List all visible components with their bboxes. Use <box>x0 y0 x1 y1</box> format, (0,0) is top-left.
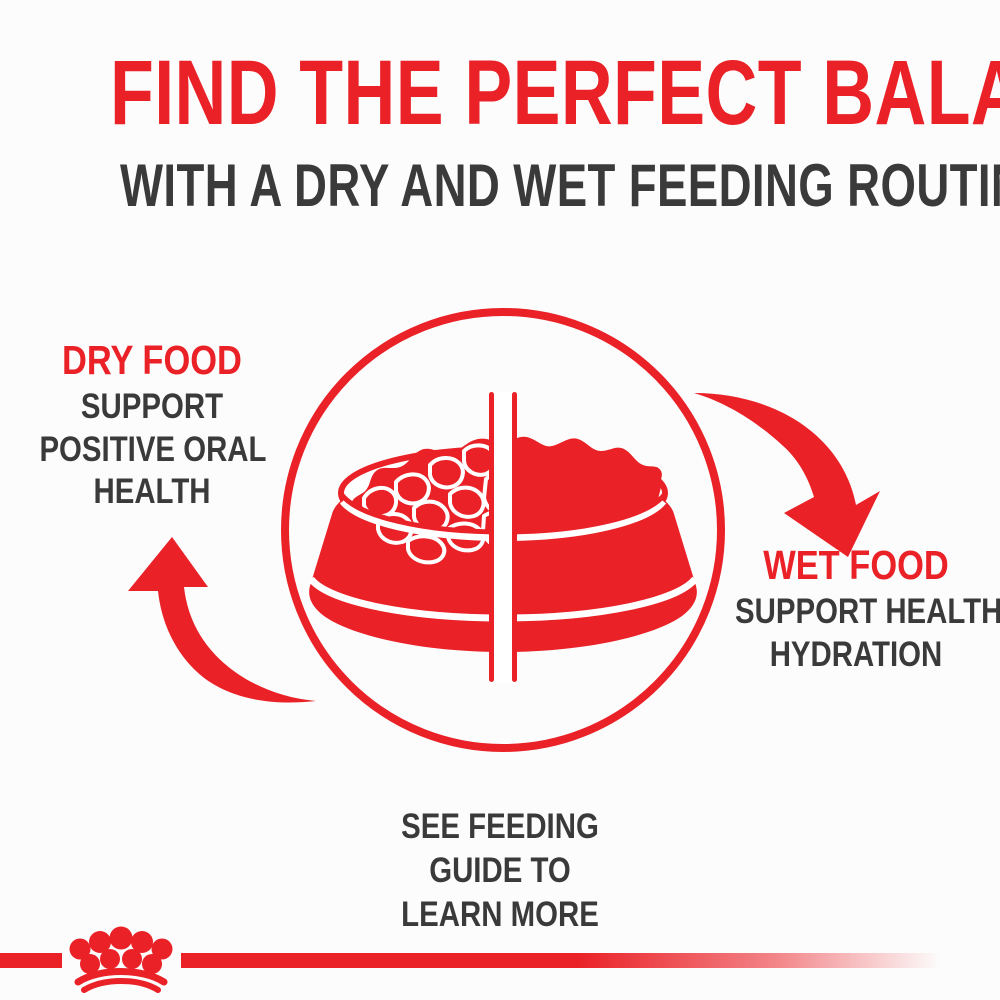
dry-food-title: DRY FOOD <box>39 340 264 382</box>
dry-food-line-3: HEALTH <box>39 471 264 514</box>
cta-text-block[interactable]: SEE FEEDING GUIDE TO LEARN MORE <box>300 805 700 936</box>
dry-food-label: DRY FOOD SUPPORT POSITIVE ORAL HEALTH <box>18 340 286 514</box>
page-subtitle: WITH A DRY AND WET FEEDING ROUTINE <box>120 156 880 216</box>
dry-food-line-1: SUPPORT <box>39 386 264 429</box>
wet-food-line-1: SUPPORT HEALTHY <box>735 591 977 634</box>
footer-bar-right <box>181 953 941 968</box>
royal-canin-crown-icon <box>70 927 173 991</box>
bowl-illustration <box>258 288 748 768</box>
page-title: FIND THE PERFECT BALANCE <box>110 48 890 138</box>
split-divider <box>489 392 517 682</box>
poster-canvas: FIND THE PERFECT BALANCE WITH A DRY AND … <box>0 0 1000 1000</box>
headline-block: FIND THE PERFECT BALANCE WITH A DRY AND … <box>0 48 1000 216</box>
wet-food-arrow-icon <box>690 385 900 565</box>
cta-line-2: GUIDE TO <box>332 849 668 893</box>
wet-food-description: SUPPORT HEALTHY HYDRATION <box>735 591 977 676</box>
cta-line-1: SEE FEEDING <box>332 805 668 849</box>
footer-brand-bar <box>0 920 1000 1000</box>
dry-food-line-2: POSITIVE ORAL <box>39 429 264 472</box>
dry-food-arrow-icon <box>120 525 320 705</box>
dry-food-description: SUPPORT POSITIVE ORAL HEALTH <box>39 386 264 514</box>
wet-food-line-2: HYDRATION <box>735 634 977 677</box>
footer-bar-left <box>0 953 62 968</box>
